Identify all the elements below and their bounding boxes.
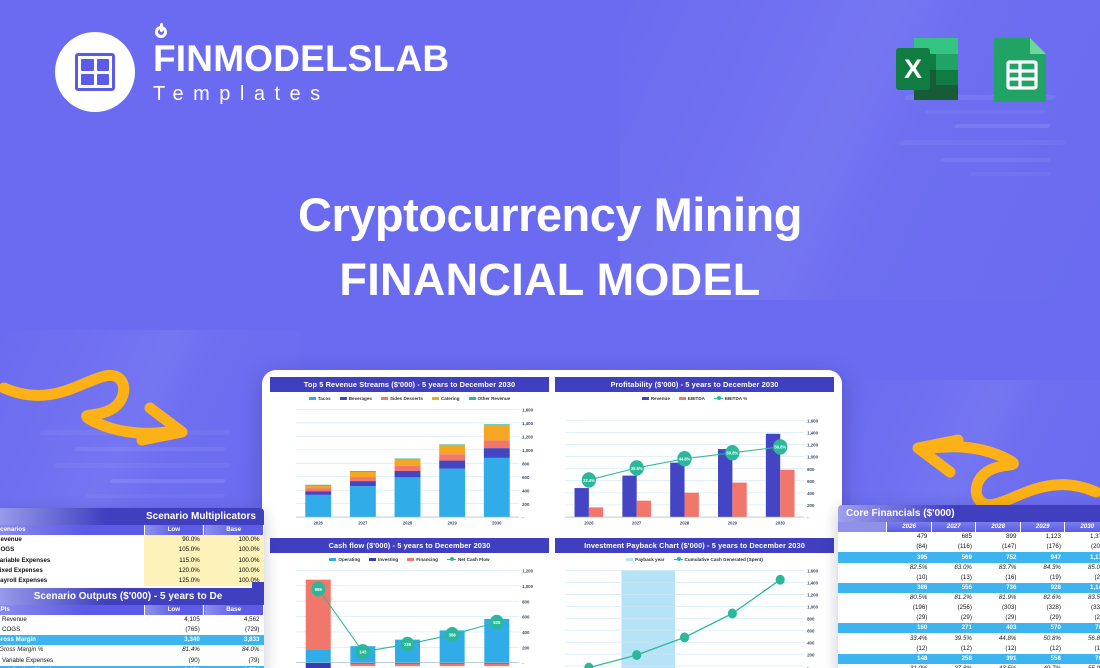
cell-base: 100.0% bbox=[204, 555, 264, 565]
cell-value: 160 bbox=[887, 623, 932, 633]
legend-swatch bbox=[642, 397, 649, 401]
chart-title: Investment Payback Chart ($'000) - 5 yea… bbox=[555, 538, 834, 553]
bar-segment bbox=[440, 663, 465, 666]
table-row: 3865567369281,149 bbox=[838, 583, 1100, 593]
y-axis-tick-label: 200 bbox=[522, 645, 530, 650]
bar-segment bbox=[484, 424, 510, 425]
legend-item: Revenue bbox=[642, 396, 670, 401]
cell-value: (256) bbox=[931, 603, 976, 613]
row-label: Variable Expenses bbox=[0, 555, 144, 565]
row-label-spacer bbox=[838, 664, 887, 668]
bar-segment bbox=[439, 444, 465, 445]
cell-value: 80.5% bbox=[887, 593, 932, 603]
y-axis-tick-label: 800 bbox=[522, 461, 530, 466]
bar-segment bbox=[439, 460, 465, 468]
row-label: Revenue bbox=[0, 535, 144, 545]
legend-label: Financing bbox=[416, 557, 438, 562]
cell-value: 84.3% bbox=[1020, 563, 1065, 573]
cell-value: 569 bbox=[931, 552, 976, 562]
row-label-spacer bbox=[838, 603, 887, 613]
scenario-multiplicators-title: Scenario Multiplicators bbox=[0, 508, 264, 525]
cell-low: 90.0% bbox=[144, 535, 204, 545]
chart-title: Profitability ($'000) - 5 years to Decem… bbox=[555, 377, 834, 392]
table-row: 4796858991,1231,376 bbox=[838, 532, 1100, 542]
y-axis-tick-label: 200 bbox=[522, 501, 530, 506]
row-label: Payroll Expenses bbox=[0, 576, 144, 586]
chart-legend: Revenue EBITDA EBITDA % bbox=[555, 392, 834, 403]
cell-low: 3,340 bbox=[144, 635, 204, 645]
cell-base: 4,562 bbox=[204, 615, 264, 625]
table-row: 82.5%83.0%83.7%84.3%85.0% bbox=[838, 563, 1100, 573]
y-axis-tick-label: 400 bbox=[807, 640, 815, 645]
promo-banner: FINMODELSLAB Templates X bbox=[0, 0, 1100, 668]
cell-value: (196) bbox=[887, 603, 932, 613]
cell-value: 83.7% bbox=[976, 563, 1021, 573]
cell-value: (16) bbox=[976, 573, 1021, 583]
data-point-marker bbox=[680, 632, 689, 642]
bar-segment bbox=[484, 440, 510, 448]
table-row: COGS105.0%100.0% bbox=[0, 545, 264, 555]
row-label-spacer bbox=[838, 654, 887, 664]
cell-low: 4,105 bbox=[144, 615, 204, 625]
cell-value: 85.0% bbox=[1065, 563, 1100, 573]
y-axis-tick-label: 400 bbox=[522, 630, 530, 635]
y-axis-tick-label: 1,600 bbox=[807, 568, 818, 573]
logo-text: FINMODELSLAB Templates bbox=[153, 40, 449, 104]
microsoft-excel-icon: X bbox=[888, 30, 966, 108]
legend-item: Financing bbox=[407, 557, 438, 562]
bar-segment bbox=[439, 454, 465, 460]
cell-value: 558 bbox=[1020, 654, 1065, 664]
row-label: Gross Margin % bbox=[0, 645, 144, 655]
x-axis-tick-label: 2028 bbox=[680, 520, 690, 525]
cell-value: (12) bbox=[931, 644, 976, 654]
squiggly-arrow-right-icon bbox=[0, 360, 210, 450]
bar-segment bbox=[484, 448, 510, 458]
legend-label: Sides Desserts bbox=[390, 396, 423, 401]
x-axis-tick-label: 2026 bbox=[584, 520, 594, 525]
bar-segment bbox=[350, 481, 376, 486]
bar-segment bbox=[305, 485, 331, 486]
cell-value: 391 bbox=[976, 654, 1021, 664]
column-header: 2029 bbox=[1020, 522, 1065, 532]
cell-value: 395 bbox=[887, 552, 932, 562]
row-label-spacer bbox=[838, 532, 887, 542]
background-brush bbox=[899, 140, 1067, 145]
y-axis-tick-label: 1,400 bbox=[522, 421, 533, 426]
cell-value: 899 bbox=[976, 532, 1021, 542]
legend-swatch bbox=[469, 397, 476, 401]
y-axis-tick-label: 600 bbox=[522, 475, 530, 480]
x-axis-tick-label: 2027 bbox=[358, 520, 368, 525]
y-axis-tick-label: 600 bbox=[807, 628, 815, 633]
cell-value: (12) bbox=[887, 644, 932, 654]
bar bbox=[622, 475, 636, 516]
y-axis-tick-label: 1,200 bbox=[807, 442, 818, 447]
cell-base: (79) bbox=[204, 655, 264, 665]
cell-value: 33.4% bbox=[887, 633, 932, 643]
legend-label: Catering bbox=[441, 396, 460, 401]
data-point-marker bbox=[632, 650, 641, 660]
row-label-spacer bbox=[838, 563, 887, 573]
cell-value: 1,149 bbox=[1065, 583, 1100, 593]
table-row: 148258391558769 bbox=[838, 654, 1100, 664]
legend-item: Net Cash Flow bbox=[447, 557, 490, 562]
table-row: COGS(765)(729) bbox=[0, 625, 264, 635]
legend-swatch bbox=[714, 398, 723, 399]
data-label: 366 bbox=[449, 632, 457, 637]
svg-text:X: X bbox=[904, 54, 922, 84]
legend-item: Sides Desserts bbox=[381, 396, 423, 401]
table-row: (84)(116)(147)(176)(206) bbox=[838, 542, 1100, 552]
row-label-spacer bbox=[838, 633, 887, 643]
table-body: 4796858991,1231,376(84)(116)(147)(176)(2… bbox=[838, 532, 1100, 668]
brand-logo: FINMODELSLAB Templates bbox=[55, 32, 449, 112]
bar-segment bbox=[439, 469, 465, 517]
legend-label: Beverages bbox=[349, 396, 372, 401]
cell-value: (21) bbox=[1065, 573, 1100, 583]
bar bbox=[670, 463, 684, 517]
background-brush bbox=[84, 494, 226, 498]
y-axis-tick-label: 200 bbox=[807, 652, 815, 657]
bar-segment bbox=[350, 471, 376, 477]
row-label-spacer bbox=[838, 644, 887, 654]
payback-band bbox=[621, 570, 675, 668]
column-header: KPIs bbox=[0, 605, 144, 615]
cell-value: 148 bbox=[887, 654, 932, 664]
bar-segment bbox=[350, 477, 376, 481]
core-financials-panel: Core Financials ($'000) 2026 2027 2028 2… bbox=[838, 505, 1100, 668]
table-header-row: KPIs Low Base bbox=[0, 605, 264, 615]
background-brush bbox=[939, 158, 1051, 162]
legend-swatch bbox=[369, 558, 376, 562]
y-axis-tick-label: 400 bbox=[522, 488, 530, 493]
legend-swatch bbox=[381, 397, 388, 401]
background-brush bbox=[54, 463, 232, 468]
bar bbox=[575, 488, 589, 517]
column-header: 2027 bbox=[931, 522, 976, 532]
table-row: (10)(13)(16)(19)(21) bbox=[838, 573, 1100, 583]
bar-segment bbox=[395, 466, 421, 471]
cell-value: (338) bbox=[1065, 603, 1100, 613]
table-row: Payroll Expenses125.0%100.0% bbox=[0, 576, 264, 586]
chart-title: Top 5 Revenue Streams ($'000) - 5 years … bbox=[270, 377, 549, 392]
x-axis-tick-label: 2029 bbox=[728, 520, 738, 525]
y-axis-tick-label: 1,000 bbox=[522, 584, 533, 589]
y-axis-tick-label: 1,000 bbox=[522, 448, 533, 453]
y-axis-tick-label: 1,400 bbox=[807, 430, 818, 435]
y-axis-tick-label: - bbox=[807, 515, 809, 520]
cell-value: 1,123 bbox=[1020, 532, 1065, 542]
cell-value: (116) bbox=[931, 542, 976, 552]
row-label-spacer bbox=[838, 552, 887, 562]
cell-value: 769 bbox=[1065, 654, 1100, 664]
x-axis-tick-label: 2029 bbox=[448, 520, 458, 525]
data-label: 50.8% bbox=[727, 450, 739, 455]
row-label: Fixed Expenses bbox=[0, 566, 144, 576]
column-header: 2026 bbox=[887, 522, 932, 532]
background-brush bbox=[969, 172, 1051, 176]
background-brush bbox=[924, 110, 1046, 114]
dashboard-preview: Top 5 Revenue Streams ($'000) - 5 years … bbox=[262, 370, 842, 668]
file-format-icons: X bbox=[888, 30, 1060, 108]
legend-swatch bbox=[626, 558, 633, 562]
cell-value: 37.8% bbox=[931, 664, 976, 668]
cell-base: 84.0% bbox=[204, 645, 264, 655]
legend-swatch bbox=[447, 559, 456, 560]
legend-item: Operating bbox=[329, 557, 360, 562]
squiggly-arrow-left-icon bbox=[890, 420, 1100, 510]
legend-swatch bbox=[432, 397, 439, 401]
bar bbox=[780, 470, 794, 517]
cell-value: 403 bbox=[976, 623, 1021, 633]
bar-segment bbox=[305, 491, 331, 495]
background-brush bbox=[39, 430, 232, 435]
table-row: Fixed Expenses120.0%100.0% bbox=[0, 566, 264, 576]
legend-item: EBITDA % bbox=[714, 396, 747, 401]
legend-item: Beverages bbox=[340, 396, 372, 401]
table-header-row: 2026 2027 2028 2029 2030 bbox=[838, 522, 1100, 532]
bar-segment bbox=[306, 650, 331, 663]
legend-label: Cumulative Cash Generated (Spent) bbox=[685, 557, 763, 562]
column-header: Scenarios bbox=[0, 525, 144, 535]
table-row: Gross Margin %81.4%84.0% bbox=[0, 645, 264, 655]
cell-value: 55.9% bbox=[1065, 664, 1100, 668]
table-row: (29)(29)(29)(29)(29) bbox=[838, 613, 1100, 623]
cell-value: (12) bbox=[1065, 644, 1100, 654]
brand-subtitle: Templates bbox=[153, 84, 449, 104]
table-row: Variable Expenses115.0%100.0% bbox=[0, 555, 264, 565]
y-axis-tick-label: 1,600 bbox=[807, 418, 818, 423]
background-brush bbox=[109, 479, 226, 483]
table-row: 33.4%39.5%44.8%50.8%56.8% bbox=[838, 633, 1100, 643]
y-axis-tick-label: - bbox=[522, 661, 524, 666]
legend-label: Tacos bbox=[318, 396, 331, 401]
bar-segment bbox=[350, 663, 375, 666]
cell-value: (10) bbox=[887, 573, 932, 583]
legend-item: Catering bbox=[432, 396, 460, 401]
cell-value: (29) bbox=[1020, 613, 1065, 623]
data-label: 44.8% bbox=[679, 456, 691, 461]
cell-value: 81.2% bbox=[931, 593, 976, 603]
table-row: 3955697529471,170 bbox=[838, 552, 1100, 562]
cell-value: 685 bbox=[931, 532, 976, 542]
cell-value: 271 bbox=[931, 623, 976, 633]
bar-segment bbox=[305, 488, 331, 491]
cell-value: (206) bbox=[1065, 542, 1100, 552]
table-row: Revenue90.0%100.0% bbox=[0, 535, 264, 545]
data-label: 239 bbox=[404, 642, 412, 647]
cell-value: (303) bbox=[976, 603, 1021, 613]
cell-value: 736 bbox=[976, 583, 1021, 593]
bar-segment bbox=[395, 459, 421, 466]
row-label: COGS bbox=[0, 625, 144, 635]
table-row: 80.5%81.2%81.9%82.6%83.5% bbox=[838, 593, 1100, 603]
legend-label: Payback year bbox=[635, 557, 664, 562]
legend-label: Other Revenue bbox=[478, 396, 511, 401]
x-axis-tick-label: 2030 bbox=[776, 520, 786, 525]
cell-value: (29) bbox=[931, 613, 976, 623]
scenario-multiplicators-table: Scenarios Low Base Revenue90.0%100.0%COG… bbox=[0, 525, 264, 586]
bar-segment bbox=[439, 445, 465, 454]
cell-value: 782 bbox=[1065, 623, 1100, 633]
bar-segment bbox=[395, 471, 421, 477]
legend-swatch bbox=[329, 558, 336, 562]
cell-value: (29) bbox=[1065, 613, 1100, 623]
chart-legend: Tacos Beverages Sides Desserts Catering … bbox=[270, 392, 549, 403]
legend-swatch bbox=[340, 397, 347, 401]
cell-value: 947 bbox=[1020, 552, 1065, 562]
column-header: 2030 bbox=[1065, 522, 1100, 532]
cell-value: 81.9% bbox=[976, 593, 1021, 603]
cell-low: 81.4% bbox=[144, 645, 204, 655]
chart-legend: Operating Investing Financing Net Cash F… bbox=[270, 553, 549, 564]
scenario-outputs-table: KPIs Low Base Revenue4,1054,562COGS(765)… bbox=[0, 605, 264, 668]
y-axis-tick-label: 800 bbox=[807, 616, 815, 621]
cell-value: 44.8% bbox=[976, 633, 1021, 643]
bar-segment bbox=[395, 458, 421, 459]
core-financials-table: 2026 2027 2028 2029 2030 4796858991,1231… bbox=[838, 522, 1100, 668]
cell-value: 1,376 bbox=[1065, 532, 1100, 542]
column-header: 2028 bbox=[976, 522, 1021, 532]
cell-value: (29) bbox=[976, 613, 1021, 623]
cell-value: 31.0% bbox=[887, 664, 932, 668]
cell-value: 752 bbox=[976, 552, 1021, 562]
row-label: Variable Expenses bbox=[0, 655, 144, 665]
logo-mark bbox=[55, 32, 135, 112]
cell-value: 928 bbox=[1020, 583, 1065, 593]
chart-investment-payback: Investment Payback Chart ($'000) - 5 yea… bbox=[555, 538, 834, 668]
table-row: (12)(12)(12)(12)(12) bbox=[838, 644, 1100, 654]
chart-title: Cash flow ($'000) - 5 years to December … bbox=[270, 538, 549, 553]
legend-item: Investing bbox=[369, 557, 398, 562]
data-label: 143 bbox=[359, 649, 367, 654]
legend-item: EBITDA bbox=[679, 396, 705, 401]
cell-value: (176) bbox=[1020, 542, 1065, 552]
data-label: 35.5% bbox=[631, 466, 643, 471]
legend-item: Payback year bbox=[626, 557, 664, 562]
cell-low: 105.0% bbox=[144, 545, 204, 555]
table-body: Revenue4,1054,562COGS(765)(729)Gross Mar… bbox=[0, 615, 264, 668]
bar-segment bbox=[484, 458, 510, 517]
cell-value: 258 bbox=[931, 654, 976, 664]
column-header: Low bbox=[144, 605, 204, 615]
bar-segment bbox=[305, 485, 331, 488]
row-label: Revenue bbox=[0, 615, 144, 625]
bar bbox=[589, 507, 603, 517]
table-row: Variable Expenses(90)(79) bbox=[0, 655, 264, 665]
table-body: Revenue90.0%100.0%COGS105.0%100.0%Variab… bbox=[0, 535, 264, 586]
table-row: 31.0%37.8%43.5%49.7%55.9% bbox=[838, 664, 1100, 668]
bar-segment bbox=[350, 486, 376, 517]
y-axis-tick-label: 1,400 bbox=[807, 580, 818, 585]
y-axis-tick-label: 1,000 bbox=[807, 604, 818, 609]
table-row: Revenue4,1054,562 bbox=[0, 615, 264, 625]
y-axis-tick-label: 1,200 bbox=[522, 434, 533, 439]
y-axis-tick-label: - bbox=[807, 664, 809, 668]
cell-value: 479 bbox=[887, 532, 932, 542]
legend-item: Other Revenue bbox=[469, 396, 511, 401]
background-sheen bbox=[0, 330, 300, 530]
cell-value: 39.5% bbox=[931, 633, 976, 643]
column-header-spacer bbox=[838, 522, 887, 532]
y-axis-tick-label: 1,000 bbox=[807, 454, 818, 459]
google-sheets-icon bbox=[982, 30, 1060, 108]
bar-segment bbox=[305, 495, 331, 517]
table-row: 160271403570782 bbox=[838, 623, 1100, 633]
chart-profitability: Profitability ($'000) - 5 years to Decem… bbox=[555, 377, 834, 532]
cell-value: 50.8% bbox=[1020, 633, 1065, 643]
chart-legend: Payback year Cumulative Cash Generated (… bbox=[555, 553, 834, 564]
cell-low: 120.0% bbox=[144, 566, 204, 576]
cell-value: 83.0% bbox=[931, 563, 976, 573]
panel-edge-tab bbox=[252, 582, 264, 593]
cell-base: (729) bbox=[204, 625, 264, 635]
y-axis-tick-label: 400 bbox=[807, 491, 815, 496]
row-label-spacer bbox=[838, 542, 887, 552]
cell-low: (765) bbox=[144, 625, 204, 635]
row-label-spacer bbox=[838, 613, 887, 623]
row-label-spacer bbox=[838, 573, 887, 583]
y-axis-tick-label: 200 bbox=[807, 503, 815, 508]
data-label: 23.4% bbox=[583, 478, 595, 483]
y-axis-tick-label: 800 bbox=[807, 467, 815, 472]
data-point-marker bbox=[584, 663, 593, 668]
x-axis-tick-label: 2030 bbox=[492, 520, 502, 525]
chart-top-5-revenue-streams: Top 5 Revenue Streams ($'000) - 5 years … bbox=[270, 377, 549, 532]
data-label: 56.8% bbox=[774, 444, 786, 449]
chart-plot-area: 1,6001,4001,2001,000800600400200-2026202… bbox=[555, 403, 834, 532]
cell-value: 556 bbox=[931, 583, 976, 593]
cell-value: 83.5% bbox=[1065, 593, 1100, 603]
legend-swatch bbox=[674, 559, 683, 560]
x-axis-tick-label: 2028 bbox=[403, 520, 413, 525]
legend-label: EBITDA bbox=[688, 396, 705, 401]
row-label-spacer bbox=[838, 623, 887, 633]
title-line-2: FINANCIAL MODEL bbox=[0, 254, 1100, 306]
bar bbox=[732, 482, 746, 517]
row-label-spacer bbox=[838, 593, 887, 603]
data-point-marker bbox=[776, 575, 785, 585]
bar-segment bbox=[484, 425, 510, 440]
y-axis-tick-label: 600 bbox=[807, 479, 815, 484]
table-header-row: Scenarios Low Base bbox=[0, 525, 264, 535]
data-label: 525 bbox=[493, 620, 501, 625]
cell-base: 100.0% bbox=[204, 545, 264, 555]
bar-segment bbox=[350, 471, 376, 472]
cell-value: 1,170 bbox=[1065, 552, 1100, 562]
cell-value: (84) bbox=[887, 542, 932, 552]
x-axis-tick-label: 2027 bbox=[632, 520, 642, 525]
cell-low: 115.0% bbox=[144, 555, 204, 565]
y-axis-tick-label: 1,200 bbox=[807, 592, 818, 597]
x-axis-tick-label: 2026 bbox=[314, 520, 324, 525]
row-label-spacer bbox=[838, 583, 887, 593]
row-label: Gross Margin bbox=[0, 635, 144, 645]
table-row: (196)(256)(303)(328)(338) bbox=[838, 603, 1100, 613]
cell-value: (328) bbox=[1020, 603, 1065, 613]
cell-base: 3,833 bbox=[204, 635, 264, 645]
cell-value: (147) bbox=[976, 542, 1021, 552]
y-axis-tick-label: 1,200 bbox=[522, 568, 533, 573]
legend-label: Investing bbox=[378, 557, 398, 562]
column-header: Base bbox=[204, 525, 264, 535]
chart-plot-area: 1,6001,4001,2001,000800600400200-2026202… bbox=[270, 403, 549, 532]
legend-swatch bbox=[309, 397, 316, 401]
scenario-panel: Scenario Multiplicators Scenarios Low Ba… bbox=[0, 508, 264, 668]
cell-value: 570 bbox=[1020, 623, 1065, 633]
brand-name: FINMODELSLAB bbox=[153, 40, 449, 77]
